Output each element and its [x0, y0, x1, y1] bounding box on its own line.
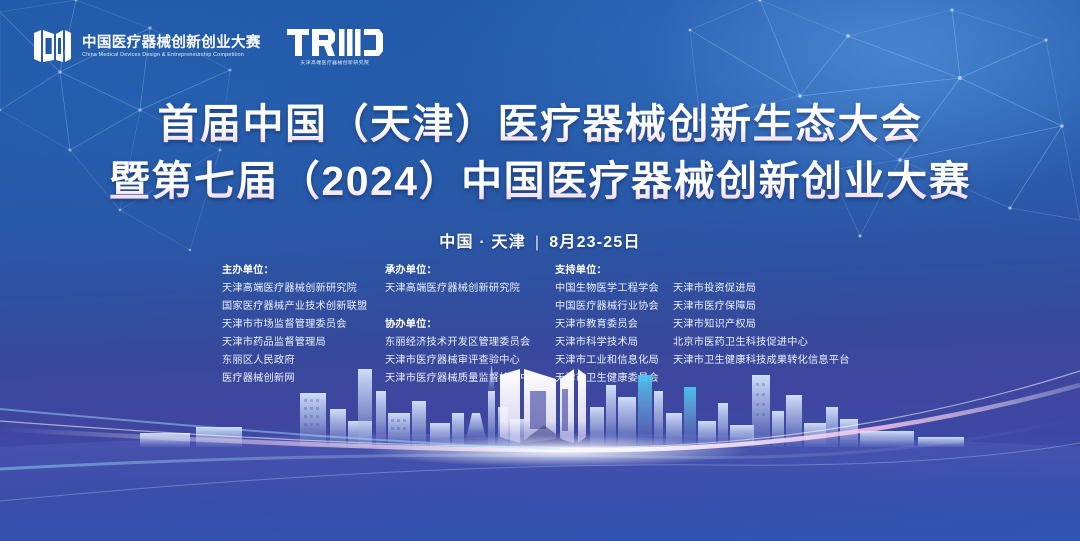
- organizer-item: 天津市医疗保障局: [673, 298, 883, 316]
- organizer-column-undertaker: 承办单位： 天津高端医疗器械创新研究院 协办单位： 东丽经济技术开发区管理委员会…: [385, 262, 555, 388]
- organizer-item: 东丽经济技术开发区管理委员会: [385, 334, 555, 352]
- title-block: 首届中国（天津）医疗器械创新生态大会 暨第七届（2024）中国医疗器械创新创业大…: [0, 96, 1080, 209]
- title-line-1: 首届中国（天津）医疗器械创新生态大会: [0, 96, 1080, 153]
- triid-wordmark: [287, 29, 383, 57]
- organizer-columns: 主办单位： 天津高端医疗器械创新研究院 国家医疗器械产业技术创新联盟 天津市市场…: [222, 262, 883, 388]
- event-info-separator: |: [535, 234, 540, 252]
- event-info: 中国 · 天津|8月23-25日: [0, 228, 1080, 252]
- competition-logo-cn: 中国医疗器械创新创业大赛: [82, 35, 261, 52]
- organizer-item: 天津市医疗器械审评查验中心: [385, 352, 555, 370]
- organizer-item: 天津市知识产权局: [673, 316, 883, 334]
- organizer-item: 天津市科学技术局: [555, 334, 673, 352]
- event-date: 8月23-25日: [549, 234, 640, 251]
- organizer-column-supporters-a: 支持单位： 中国生物医学工程学会 中国医疗器械行业协会 天津市教育委员会 天津市…: [555, 262, 673, 388]
- organizer-item: 天津市投资促进局: [673, 280, 883, 298]
- organizer-item: 北京市医药卫生科技促进中心: [673, 334, 883, 352]
- title-line-2: 暨第七届（2024）中国医疗器械创新创业大赛: [0, 153, 1080, 210]
- organizer-heading: 承办单位：: [385, 262, 555, 280]
- organizer-item: 天津市工业和信息化局: [555, 352, 673, 370]
- competition-logo[interactable]: 中国医疗器械创新创业大赛 China Medical Devices Desig…: [32, 28, 261, 66]
- organizer-column-supporters-b: 天津市投资促进局 天津市医疗保障局 天津市知识产权局 北京市医药卫生科技促进中心…: [673, 262, 883, 388]
- organizer-item: 中国医疗器械行业协会: [555, 298, 673, 316]
- organizer-item: 天津市市场监督管理委员会: [222, 316, 385, 334]
- organizer-item: 天津市药品监督管理局: [222, 334, 385, 352]
- logo-bar: 中国医疗器械创新创业大赛 China Medical Devices Desig…: [32, 28, 383, 66]
- organizer-item: 东丽区人民政府: [222, 352, 385, 370]
- competition-logo-en: China Medical Devices Design & Entrepren…: [82, 52, 261, 59]
- organizer-item: 天津市卫生健康委员会: [555, 370, 673, 388]
- event-location: 中国 · 天津: [439, 234, 526, 251]
- organizer-heading: 支持单位：: [555, 262, 673, 280]
- light-streak-swoosh: [0, 371, 1080, 501]
- conference-banner: 中国医疗器械创新创业大赛 China Medical Devices Desig…: [0, 0, 1080, 541]
- organizer-heading: 协办单位：: [385, 316, 555, 334]
- organizer-heading: 主办单位：: [222, 262, 385, 280]
- institute-logo-cn: 天津高端医疗器械创新研究院: [300, 59, 369, 66]
- organizer-item: 天津市医疗器械质量监督检验中心: [385, 370, 555, 388]
- open-book-logo-mark: [32, 28, 72, 66]
- institute-logo[interactable]: 天津高端医疗器械创新研究院: [287, 29, 383, 66]
- organizer-item: 天津市教育委员会: [555, 316, 673, 334]
- organizer-column-host: 主办单位： 天津高端医疗器械创新研究院 国家医疗器械产业技术创新联盟 天津市市场…: [222, 262, 385, 388]
- organizer-item: 天津高端医疗器械创新研究院: [222, 280, 385, 298]
- organizer-spacer: [385, 298, 555, 316]
- organizer-item: 国家医疗器械产业技术创新联盟: [222, 298, 385, 316]
- organizer-spacer: [673, 262, 883, 280]
- organizer-item: 天津高端医疗器械创新研究院: [385, 280, 555, 298]
- organizer-item: 医疗器械创新网: [222, 370, 385, 388]
- organizer-item: 中国生物医学工程学会: [555, 280, 673, 298]
- organizer-item: 天津市卫生健康科技成果转化信息平台: [673, 352, 883, 370]
